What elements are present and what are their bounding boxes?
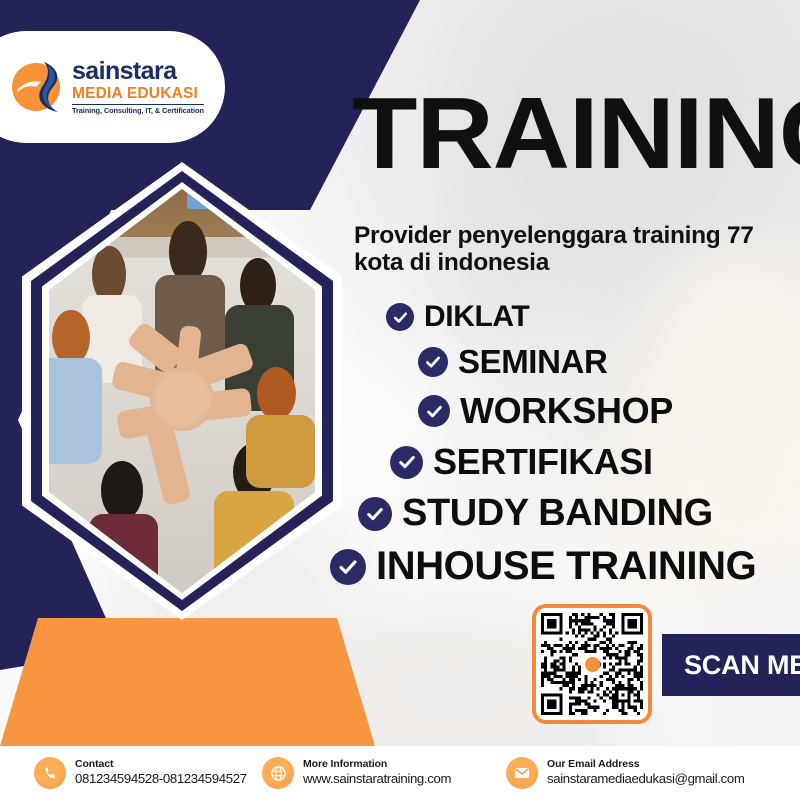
footer-item-title: Contact [75,759,247,771]
check-circle-icon [390,446,423,479]
check-circle-icon [418,347,448,377]
footer-contact-item[interactable]: Contact081234594528-081234594527 [34,746,247,800]
services-list: DIKLATSEMINARWORKSHOPSERTIFIKASISTUDY BA… [330,300,790,598]
qr-center-logo-icon [582,654,603,675]
orange-accent-shape [0,618,375,746]
scan-me-banner[interactable]: SCAN ME! [662,634,800,696]
footer-item-value[interactable]: sainstaramediaedukasi@gmail.com [547,772,745,787]
footer-contact-item[interactable]: More Informationwww.sainstaratraining.co… [262,746,451,800]
poster: sainstara MEDIA EDUKASI Training, Consul… [0,0,800,800]
envelope-icon [506,757,538,789]
scan-me-label: SCAN ME! [684,650,800,681]
service-label: WORKSHOP [460,390,673,432]
service-item: INHOUSE TRAINING [330,544,790,589]
contact-footer: Contact081234594528-081234594527More Inf… [0,746,800,800]
sainstara-logo-icon [12,61,64,113]
service-item: DIKLAT [386,300,790,334]
service-label: INHOUSE TRAINING [376,544,756,589]
check-circle-icon [418,395,450,427]
service-label: SERTIFIKASI [433,441,653,483]
footer-item-value[interactable]: 081234594528-081234594527 [75,772,247,787]
logo-name: sainstara [72,59,204,84]
service-item: SEMINAR [418,343,790,381]
page-title: TRAINING [352,92,800,177]
hexagon-photo-frame [22,162,342,620]
globe-icon [262,757,294,789]
service-label: DIKLAT [424,300,529,334]
service-item: WORKSHOP [418,390,790,432]
service-item: SERTIFIKASI [390,441,790,483]
logo-badge: sainstara MEDIA EDUKASI Training, Consul… [0,31,225,143]
phone-icon [34,757,66,789]
check-circle-icon [386,303,414,331]
logo-subtitle: MEDIA EDUKASI [72,86,204,102]
service-item: STUDY BANDING [358,492,790,535]
service-label: STUDY BANDING [402,492,713,535]
footer-contact-item[interactable]: Our Email Addresssainstaramediaedukasi@g… [506,746,745,800]
footer-item-value[interactable]: www.sainstaratraining.com [303,772,451,787]
page-subtitle: Provider penyelenggara training 77 kota … [354,222,794,277]
logo-tagline: Training, Consulting, IT, & Certificatio… [72,107,204,114]
service-label: SEMINAR [458,343,607,381]
logo-divider [72,104,204,105]
footer-item-title: More Information [303,759,451,771]
check-circle-icon [358,497,392,531]
footer-item-title: Our Email Address [547,759,745,771]
qr-code[interactable] [532,604,652,724]
check-circle-icon [330,549,366,585]
